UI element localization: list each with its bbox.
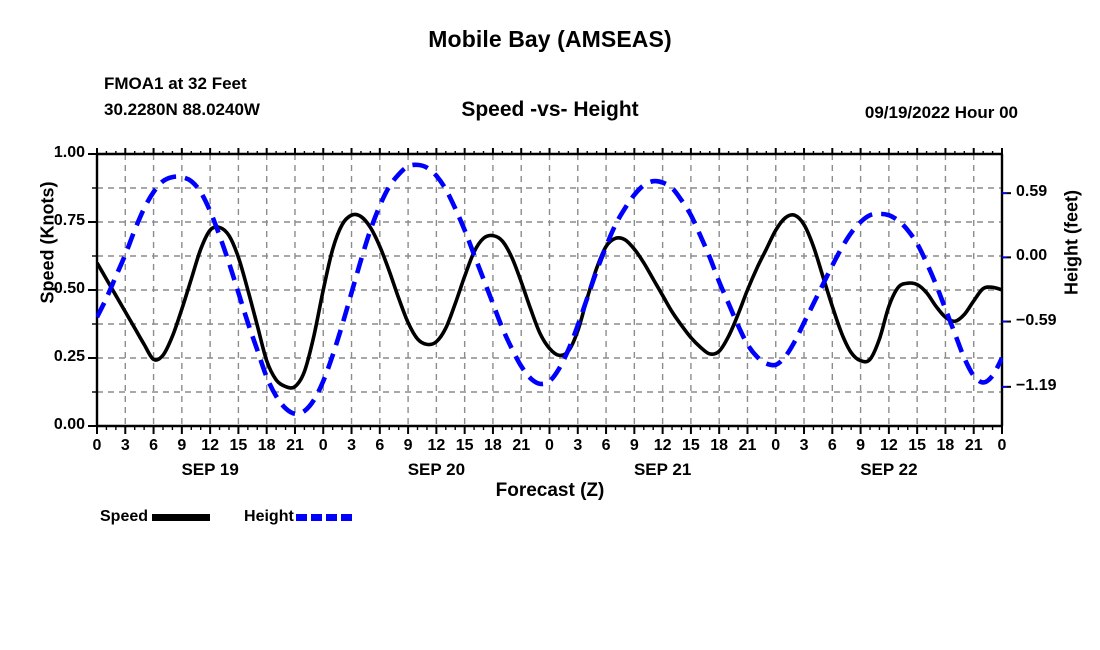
legend-swatch-speed [152,514,210,521]
legend-label-speed: Speed [100,508,148,526]
plot-area [0,0,1100,650]
legend: Speed Height [100,508,352,526]
chart-page: Mobile Bay (AMSEAS) FMOA1 at 32 Feet 30.… [0,0,1100,650]
legend-label-height: Height [244,508,294,526]
legend-swatch-height [296,514,352,521]
